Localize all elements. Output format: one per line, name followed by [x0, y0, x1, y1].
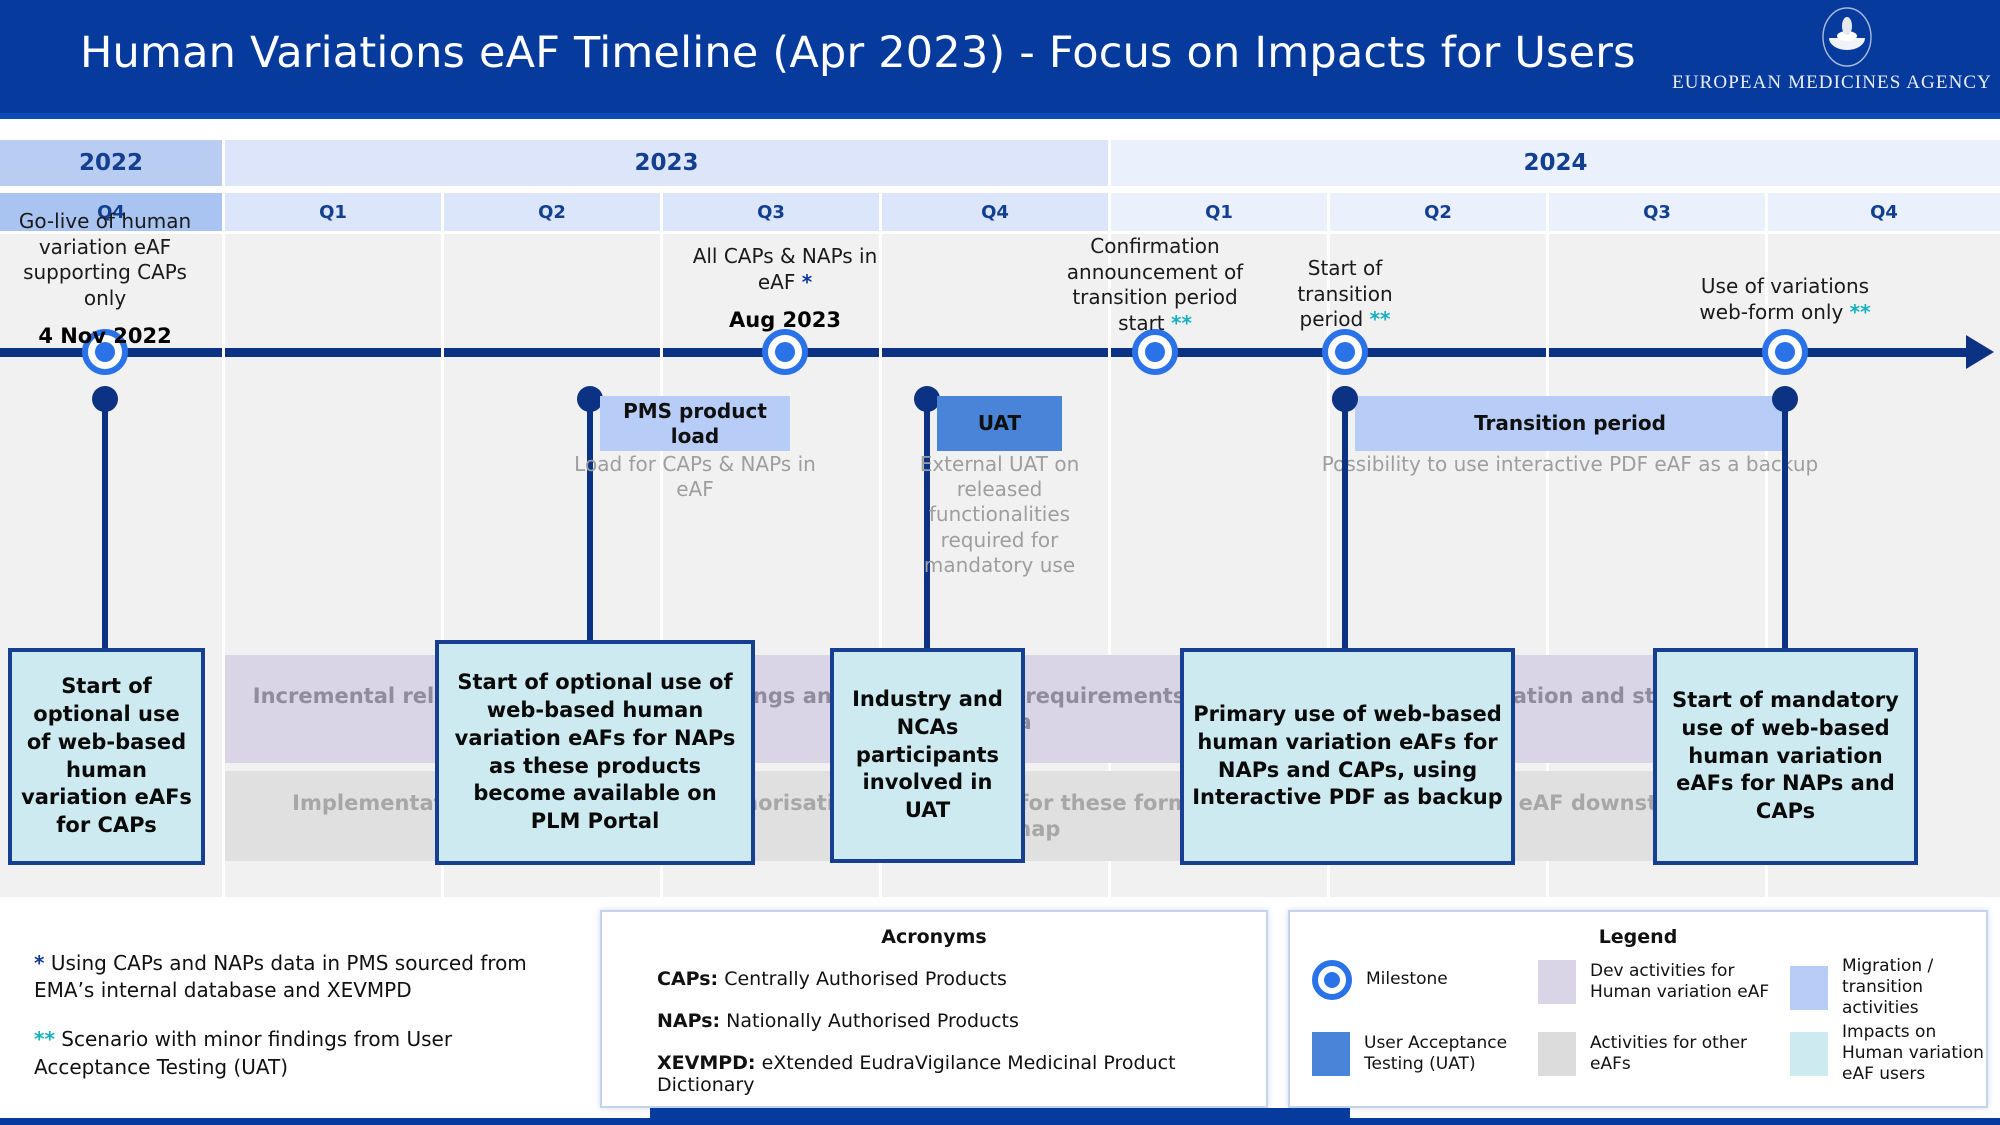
activity-subtitle-pms-product-load: Load for CAPs & NAPs in eAF: [555, 452, 835, 502]
legend-swatch-uat: [1312, 1032, 1350, 1076]
milestone-marker-transition-start[interactable]: [1322, 329, 1368, 375]
acronyms-title: Acronyms: [602, 926, 1266, 948]
activity-subtitle-transition-period: Possibility to use interactive PDF eAF a…: [1310, 452, 1830, 477]
activity-bar-transition-period: Transition period: [1355, 396, 1785, 451]
page-header: Human Variations eAF Timeline (Apr 2023)…: [0, 0, 2000, 113]
quarter-cell-5: Q1: [1111, 193, 1327, 231]
year-cell-2022: 2022: [0, 140, 222, 186]
acronym-row-2: XEVMPD: eXtended EudraVigilance Medicina…: [657, 1052, 1266, 1096]
quarter-cell-8: Q4: [1768, 193, 2000, 231]
milestone-label-go-live: Go-live of human variation eAF supportin…: [0, 209, 210, 350]
milestone-text: Go-live of human variation eAF supportin…: [19, 209, 191, 310]
quarter-cell-4: Q4: [882, 193, 1108, 231]
acronym-definition: Nationally Authorised Products: [720, 1010, 1019, 1032]
timeline-axis: [0, 348, 1972, 357]
footnote-marker: **: [1370, 307, 1391, 331]
legend-title: Legend: [1290, 926, 1986, 948]
acronyms-list: CAPs: Centrally Authorised ProductsNAPs:…: [602, 968, 1266, 1096]
legend-item-impacts: Impacts on Human variation eAF users: [1790, 1022, 2000, 1085]
acronym-term: CAPs:: [657, 968, 718, 990]
milestone-text: Confirmation announcement of transition …: [1067, 234, 1243, 335]
acronym-row-1: NAPs: Nationally Authorised Products: [657, 1010, 1266, 1032]
activity-bar-uat: UAT: [937, 396, 1062, 451]
milestone-stem-dot: [1772, 386, 1798, 412]
footnote-marker-icon: **: [34, 1027, 55, 1051]
acronym-row-0: CAPs: Centrally Authorised Products: [657, 968, 1266, 990]
acronym-term: XEVMPD:: [657, 1052, 756, 1074]
quarter-cell-6: Q2: [1330, 193, 1546, 231]
footnote-2: ** Scenario with minor findings from Use…: [34, 1026, 574, 1080]
impact-box-optional-caps: Start of optional use of web-based human…: [8, 648, 205, 865]
legend-swatch-dev: [1538, 960, 1576, 1004]
impact-box-primary-use: Primary use of web-based human variation…: [1180, 648, 1515, 865]
ema-logo-text: EUROPEAN MEDICINES AGENCY: [1672, 72, 1992, 94]
impact-box-mandatory-use: Start of mandatory use of web-based huma…: [1653, 648, 1918, 865]
footnote-marker: *: [802, 270, 812, 294]
impact-box-optional-naps: Start of optional use of web-based human…: [435, 640, 755, 865]
ema-logo-icon: [1816, 6, 1878, 68]
legend-swatch-migration: [1790, 966, 1828, 1010]
year-bar: 202220232024: [0, 140, 2000, 186]
milestone-stem: [1782, 396, 1788, 661]
legend-item-migration: Migration / transition activities: [1790, 956, 2000, 1019]
milestone-marker-all-caps-naps[interactable]: [762, 329, 808, 375]
legend-label-migration: Migration / transition activities: [1842, 956, 2000, 1019]
legend-item-uat: User Acceptance Testing (UAT): [1312, 1032, 1532, 1076]
milestone-label-web-form-only: Use of variations web-form only **: [1680, 274, 1890, 325]
legend-item-other: Activities for other eAFs: [1538, 1032, 1788, 1076]
legend-item-milestone: Milestone: [1312, 960, 1532, 1000]
milestone-date: 4 Nov 2022: [0, 323, 210, 350]
acronym-term: NAPs:: [657, 1010, 720, 1032]
impact-box-industry-ncas-uat: Industry and NCAs participants involved …: [830, 648, 1025, 863]
milestone-label-transition-start: Start of transition period **: [1270, 256, 1420, 333]
legend-swatch-impacts: [1790, 1032, 1828, 1076]
milestone-text: All CAPs & NAPs in eAF: [693, 244, 878, 294]
activity-subtitle-uat: External UAT on released functionalities…: [892, 452, 1107, 578]
footnote-text: Using CAPs and NAPs data in PMS sourced …: [34, 951, 527, 1002]
milestone-stem: [102, 396, 108, 671]
acronym-definition: Centrally Authorised Products: [718, 968, 1007, 990]
footer-bar-center: [650, 1108, 1350, 1125]
legend-item-dev: Dev activities for Human variation eAF: [1538, 960, 1788, 1004]
footnote-marker-icon: *: [34, 951, 44, 975]
quarter-cell-7: Q3: [1549, 193, 1765, 231]
header-underline: [0, 113, 2000, 119]
acronyms-panel: Acronyms CAPs: Centrally Authorised Prod…: [600, 910, 1268, 1108]
legend-label-other: Activities for other eAFs: [1590, 1033, 1788, 1075]
quarter-cell-3: Q3: [663, 193, 879, 231]
legend-panel: Legend MilestoneUser Acceptance Testing …: [1288, 910, 1988, 1108]
milestone-stem-dot: [92, 386, 118, 412]
timeline-body: Incremental releases addressing UAT find…: [0, 234, 2000, 897]
activity-stem-pms-product-load: [587, 396, 593, 671]
page-title: Human Variations eAF Timeline (Apr 2023)…: [80, 28, 1636, 78]
activity-bar-pms-product-load: PMS product load: [600, 396, 790, 451]
milestone-label-confirmation: Confirmation announcement of transition …: [1050, 234, 1260, 336]
milestone-date: Aug 2023: [690, 307, 880, 334]
quarter-cell-2: Q2: [444, 193, 660, 231]
footnote-text: Scenario with minor findings from User A…: [34, 1027, 452, 1078]
milestone-text: Use of variations web-form only: [1699, 274, 1869, 324]
legend-label-dev: Dev activities for Human variation eAF: [1590, 961, 1788, 1003]
quarter-bar: Q4Q1Q2Q3Q4Q1Q2Q3Q4: [0, 193, 2000, 231]
milestone-stem-dot: [1332, 386, 1358, 412]
year-cell-2023: 2023: [225, 140, 1108, 186]
footnote-marker: **: [1850, 300, 1871, 324]
legend-label-impacts: Impacts on Human variation eAF users: [1842, 1022, 2000, 1085]
footnote-1: * Using CAPs and NAPs data in PMS source…: [34, 950, 574, 1004]
year-cell-2024: 2024: [1111, 140, 2000, 186]
milestone-label-all-caps-naps: All CAPs & NAPs in eAF *Aug 2023: [690, 244, 880, 334]
quarter-cell-1: Q1: [225, 193, 441, 231]
legend-label-uat: User Acceptance Testing (UAT): [1364, 1033, 1532, 1075]
legend-milestone-ring-icon: [1312, 960, 1352, 1000]
footnote-marker: **: [1171, 311, 1192, 335]
timeline-axis-arrow-icon: [1966, 335, 1994, 369]
milestone-stem: [1342, 396, 1348, 671]
milestone-marker-web-form-only[interactable]: [1762, 329, 1808, 375]
footnotes: * Using CAPs and NAPs data in PMS source…: [34, 950, 574, 1103]
legend-swatch-other: [1538, 1032, 1576, 1076]
legend-label-milestone: Milestone: [1366, 969, 1448, 990]
